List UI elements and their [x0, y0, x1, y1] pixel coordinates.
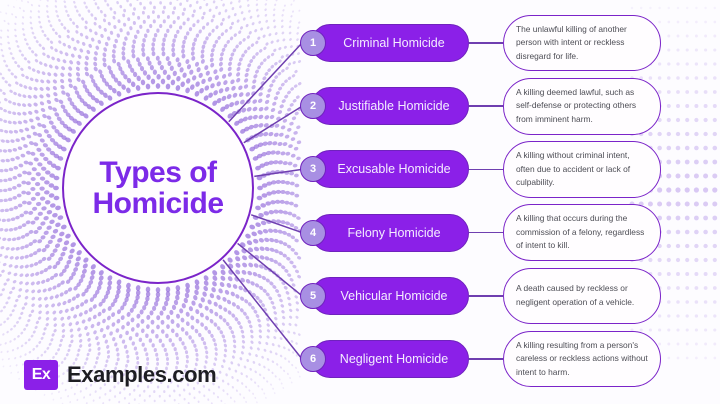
list-item[interactable]: 6Negligent HomicideA killing resulting f… [300, 337, 661, 381]
item-number-badge: 4 [300, 220, 326, 246]
item-label-pill[interactable]: Vehicular Homicide [311, 277, 469, 315]
item-label-pill[interactable]: Criminal Homicide [311, 24, 469, 62]
list-item[interactable]: 4Felony HomicideA killing that occurs du… [300, 211, 661, 255]
brand-name: Examples.com [67, 362, 216, 388]
pill-to-description-connector [469, 295, 503, 297]
item-description-box: The unlawful killing of another person w… [503, 15, 661, 72]
list-item[interactable]: 1Criminal HomicideThe unlawful killing o… [300, 21, 661, 65]
title-line-1: Types of [99, 156, 216, 189]
list-item[interactable]: 2Justifiable HomicideA killing deemed la… [300, 84, 661, 128]
item-description-box: A killing without criminal intent, often… [503, 141, 661, 198]
pill-to-description-connector [469, 232, 503, 234]
center-topic-circle: Types of Homicide [62, 92, 254, 284]
item-number-badge: 5 [300, 283, 326, 309]
list-item[interactable]: 3Excusable HomicideA killing without cri… [300, 147, 661, 191]
pill-to-description-connector [469, 105, 503, 107]
item-label-pill[interactable]: Felony Homicide [311, 214, 469, 252]
item-description-text: A killing that occurs during the commiss… [516, 212, 648, 253]
pill-to-description-connector [469, 42, 503, 44]
item-number-badge: 2 [300, 93, 326, 119]
page-title: Types of Homicide [92, 157, 223, 220]
list-item[interactable]: 5Vehicular HomicideA death caused by rec… [300, 274, 661, 318]
pill-to-description-connector [469, 358, 503, 360]
pill-to-description-connector [469, 169, 503, 171]
item-description-box: A killing resulting from a person's care… [503, 331, 661, 388]
infographic-canvas: Types of Homicide 1Criminal HomicideThe … [0, 0, 720, 404]
item-number-badge: 6 [300, 346, 326, 372]
examples-logo-icon: Ex [24, 360, 58, 390]
item-description-box: A killing that occurs during the commiss… [503, 204, 661, 261]
item-label-pill[interactable]: Negligent Homicide [311, 340, 469, 378]
item-description-text: A killing without criminal intent, often… [516, 149, 648, 190]
title-line-2: Homicide [92, 188, 223, 220]
item-label-pill[interactable]: Justifiable Homicide [311, 87, 469, 125]
item-description-text: A death caused by reckless or negligent … [516, 282, 648, 309]
item-description-text: The unlawful killing of another person w… [516, 23, 648, 64]
item-label-pill[interactable]: Excusable Homicide [311, 150, 469, 188]
brand-footer: Ex Examples.com [24, 360, 216, 390]
item-description-box: A death caused by reckless or negligent … [503, 268, 661, 324]
item-description-box: A killing deemed lawful, such as self-de… [503, 78, 661, 135]
item-description-text: A killing deemed lawful, such as self-de… [516, 86, 648, 127]
item-description-text: A killing resulting from a person's care… [516, 339, 648, 380]
item-number-badge: 1 [300, 30, 326, 56]
